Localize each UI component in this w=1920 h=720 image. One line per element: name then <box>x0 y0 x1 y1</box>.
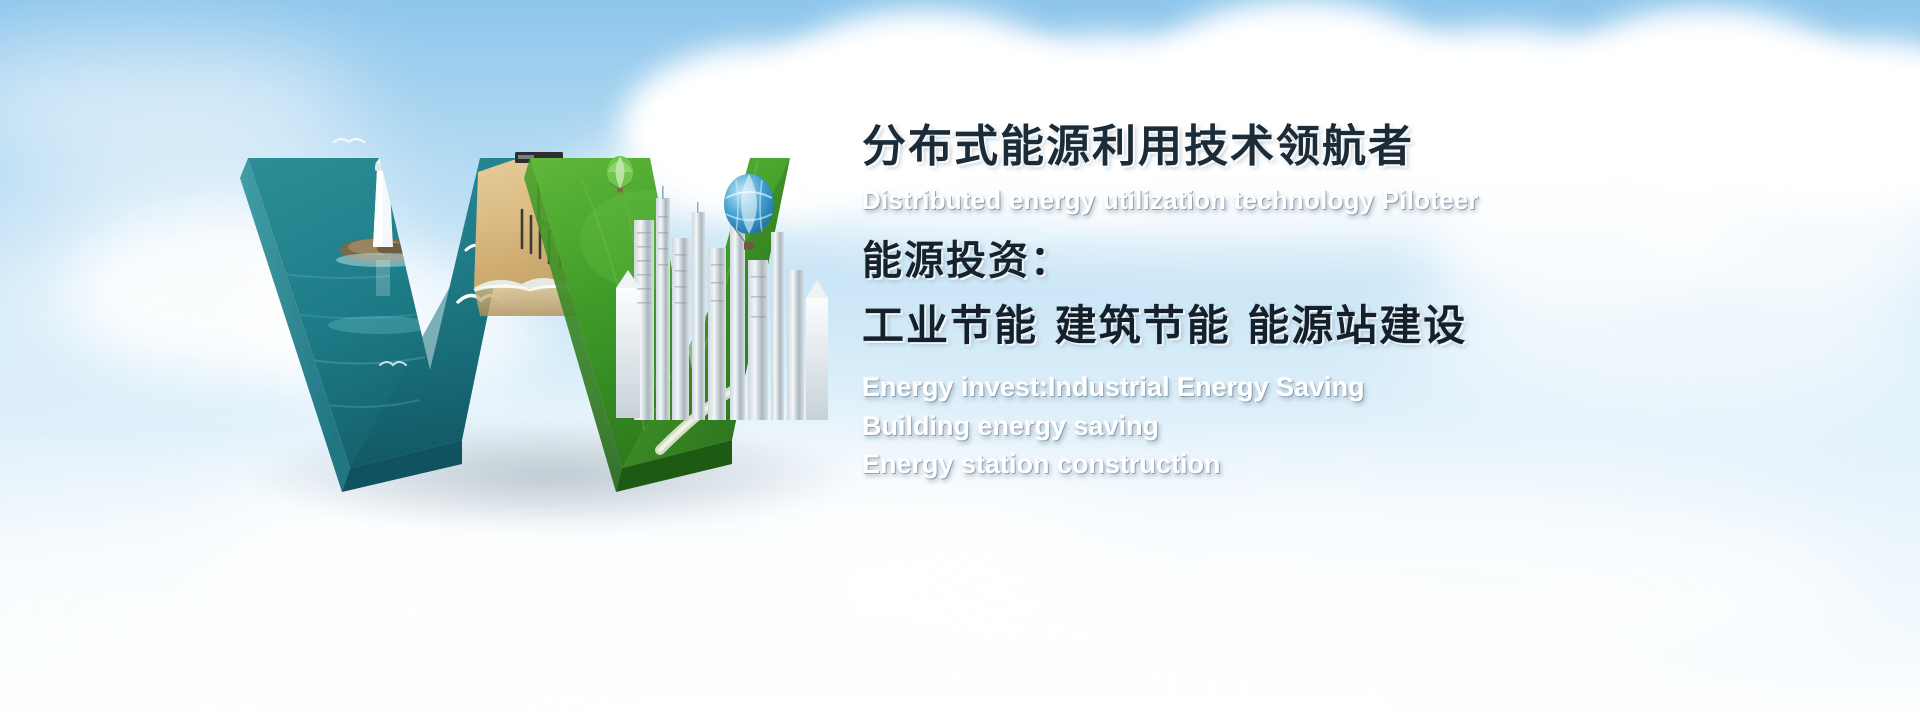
services-english-line-3: Energy station construction <box>862 445 1862 483</box>
section-label-chinese: 能源投资： <box>862 240 1862 282</box>
services-english-line-2: Building energy saving <box>862 407 1862 445</box>
seagull-icon <box>334 139 364 142</box>
cloud-haze <box>760 470 1860 710</box>
headline-english: Distributed energy utilization technolog… <box>862 187 1862 214</box>
services-english-line-1: Energy invest:Industrial Energy Saving <box>862 368 1862 406</box>
cloud-haze <box>0 500 580 720</box>
banner-copy: 分布式能源利用技术领航者 Distributed energy utilizat… <box>862 125 1862 483</box>
services-chinese: 工业节能 建筑节能 能源站建设 <box>862 304 1862 348</box>
headline-chinese: 分布式能源利用技术领航者 <box>862 125 1862 169</box>
hot-air-balloon-icon-blue <box>714 168 784 264</box>
promo-banner: 分布式能源利用技术领航者 Distributed energy utilizat… <box>0 0 1920 720</box>
services-english-list: Energy invest:Industrial Energy Saving B… <box>862 368 1862 483</box>
lighthouse-icon <box>373 149 393 247</box>
w-logo <box>230 120 850 500</box>
